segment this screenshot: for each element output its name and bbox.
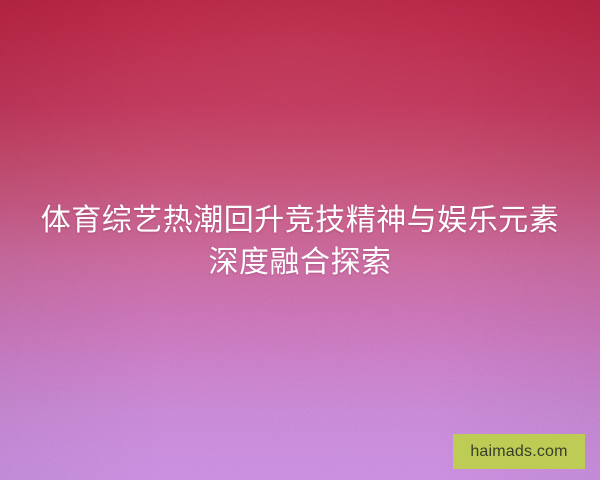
banner-headline: 体育综艺热潮回升竞技精神与娱乐元素深度融合探索 (0, 200, 600, 284)
promo-banner: 体育综艺热潮回升竞技精神与娱乐元素深度融合探索 haimads.com (0, 0, 600, 480)
watermark-badge[interactable]: haimads.com (453, 434, 585, 469)
watermark-label: haimads.com (470, 444, 567, 460)
